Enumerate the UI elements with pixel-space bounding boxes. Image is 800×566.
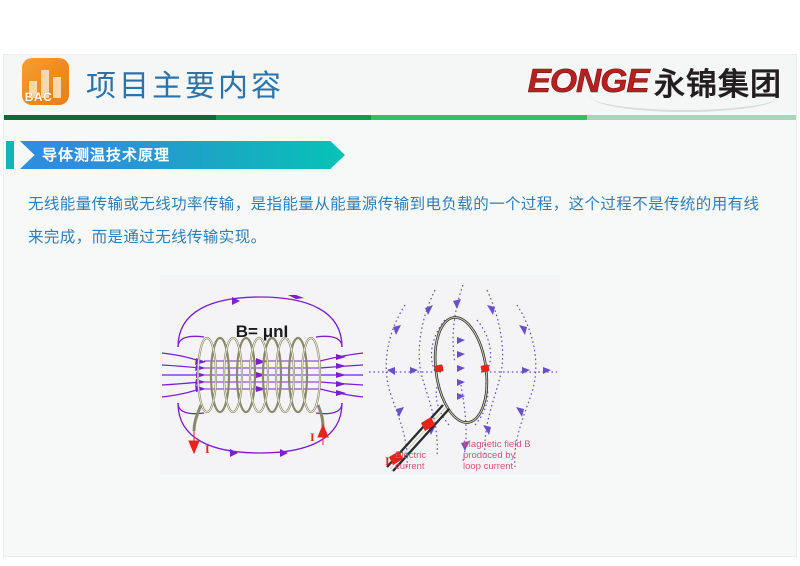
section-banner-tab — [6, 141, 14, 169]
rule-segment-2 — [216, 115, 371, 120]
header-divider-rule — [4, 115, 796, 120]
current-loop-magnetic-field-diagram: I Electric current Magnetic field B prod… — [365, 275, 560, 475]
rule-segment-3 — [371, 115, 587, 120]
solenoid-current-label-left: I — [205, 442, 210, 456]
bac-logo-icon: BAC — [22, 58, 69, 105]
slide-canvas: BAC 项目主要内容 EONGE 永锦集团 导体测温技术原理 无线能量传输或无线… — [0, 0, 800, 566]
section-banner-label: 导体测温技术原理 — [42, 141, 170, 169]
bac-logo-text: BAC — [22, 90, 55, 104]
loop-caption-current-line1: Electric — [395, 450, 426, 461]
loop-caption-field-line2: produced by — [463, 450, 516, 461]
page-title: 项目主要内容 — [86, 61, 284, 105]
loop-current-label: I — [385, 454, 390, 468]
rule-segment-1 — [4, 115, 216, 120]
section-banner: 导体测温技术原理 — [6, 141, 346, 169]
solenoid-current-label-right: I — [310, 430, 315, 444]
loop-caption-field-line1: Magnetic field B — [463, 439, 531, 450]
solenoid-magnetic-field-diagram: B= μnI — [160, 275, 365, 475]
rule-segment-4 — [587, 115, 796, 120]
loop-caption-current-line2: current — [395, 461, 425, 472]
figure-area: B= μnI — [160, 275, 560, 475]
body-paragraph: 无线能量传输或无线功率传输，是指能量从能量源传输到电负载的一个过程，这个过程不是… — [28, 188, 768, 254]
brand-name-en: EONGE — [527, 62, 648, 100]
loop-caption-field-line3: loop current — [463, 461, 514, 472]
